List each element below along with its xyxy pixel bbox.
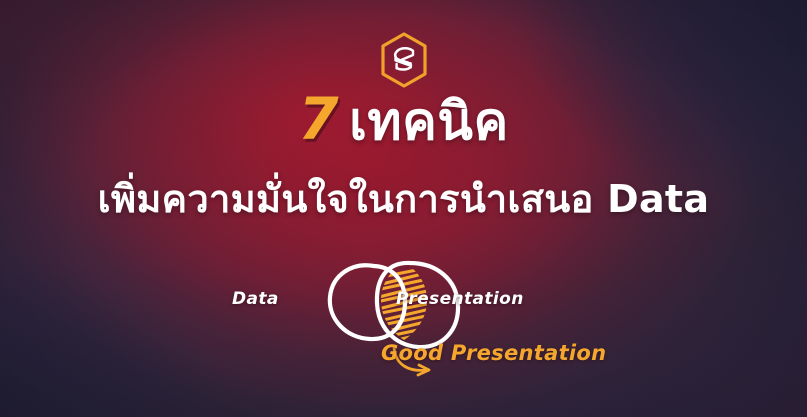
venn-diagram-block: Data Presentation Good Presentation (0, 248, 807, 388)
headline-number: 7 (298, 85, 349, 153)
venn-label-data: Data (232, 289, 279, 309)
poster-canvas: 7เทคนิค เพิ่มความมั่นใจในการนำเสนอ Data (0, 0, 807, 417)
logo (0, 31, 807, 89)
headline-text: เทคนิค (349, 92, 509, 152)
venn-label-good-presentation: Good Presentation (381, 341, 606, 365)
poster-content: 7เทคนิค เพิ่มความมั่นใจในการนำเสนอ Data (0, 0, 807, 417)
headline: 7เทคนิค (0, 88, 807, 151)
venn-label-presentation: Presentation (396, 289, 524, 309)
stacked-layers-hexagon-icon (378, 31, 430, 89)
subheadline: เพิ่มความมั่นใจในการนำเสนอ Data (0, 178, 807, 222)
venn-diagram-illustration (224, 248, 584, 388)
venn-circle-data (329, 265, 404, 339)
